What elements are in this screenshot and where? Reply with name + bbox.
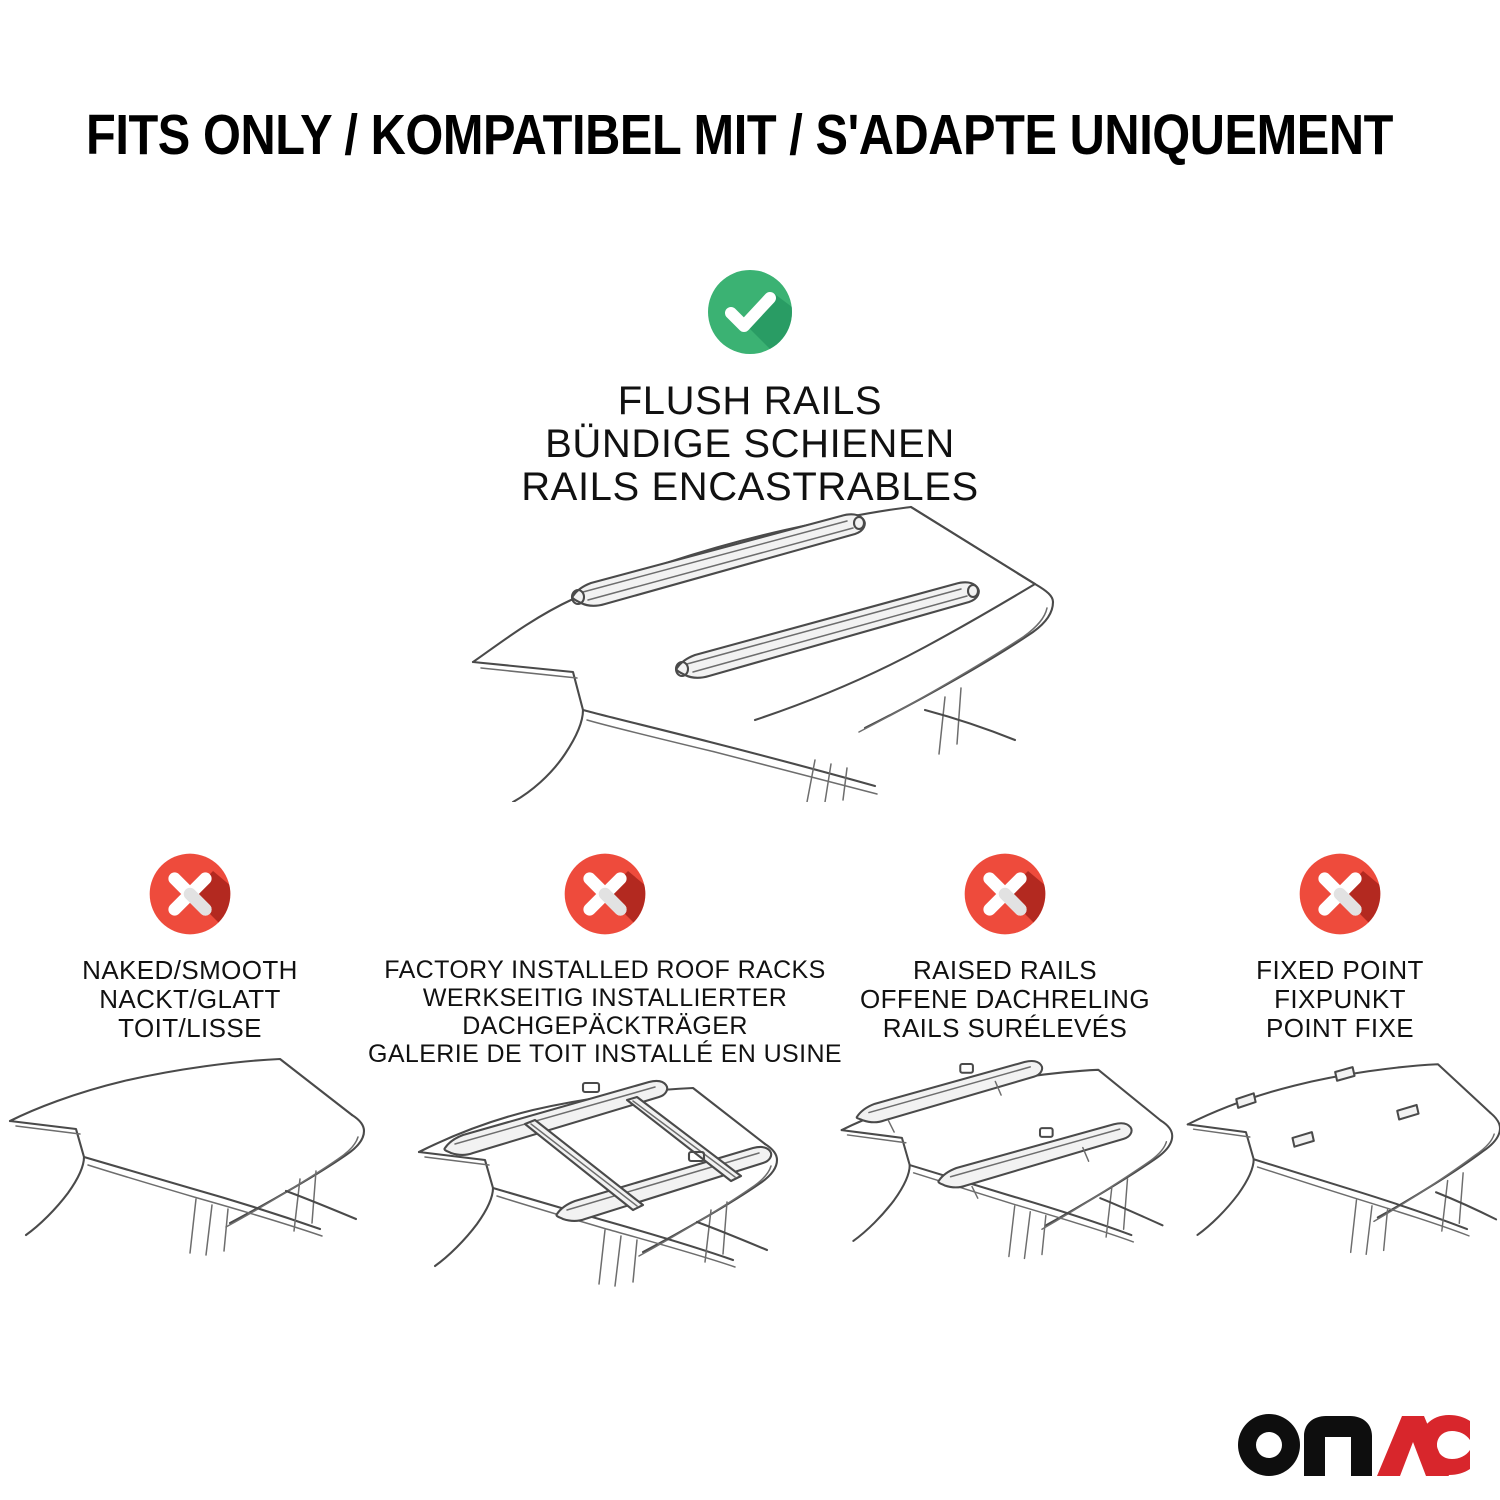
- omac-logo: [1238, 1412, 1470, 1478]
- page-title: FITS ONLY / KOMPATIBEL MIT / S'ADAPTE UN…: [86, 104, 1232, 166]
- incompatible-item-raised-rails: RAISED RAILS OFFENE DACHRELING RAILS SUR…: [830, 846, 1180, 1283]
- incompatible-labels-3: FIXED POINT FIXPUNKT POINT FIXE: [1256, 956, 1424, 1043]
- label-fr: TOIT/LISSE: [82, 1014, 298, 1043]
- compatible-label-de: BÜNDIGE SCHIENEN: [0, 423, 1500, 466]
- compatible-section: FLUSH RAILS BÜNDIGE SCHIENEN RAILS ENCAS…: [0, 262, 1500, 509]
- label-de: NACKT/GLATT: [82, 985, 298, 1014]
- label-en: RAISED RAILS: [860, 956, 1150, 985]
- x-circle-icon: [1292, 846, 1388, 942]
- compatible-labels: FLUSH RAILS BÜNDIGE SCHIENEN RAILS ENCAS…: [0, 380, 1500, 509]
- label-de: FIXPUNKT: [1256, 985, 1424, 1014]
- incompatible-item-naked-smooth: NAKED/SMOOTH NACKT/GLATT TOIT/LISSE: [0, 846, 380, 1283]
- logo-letter-m: [1304, 1416, 1372, 1476]
- label-en: FIXED POINT: [1256, 956, 1424, 985]
- car-roof-with-flush-rails-illustration: [455, 492, 1055, 802]
- label-de: OFFENE DACHRELING: [860, 985, 1150, 1014]
- incompatible-section: NAKED/SMOOTH NACKT/GLATT TOIT/LISSE: [0, 846, 1500, 1308]
- incompatible-labels-0: NAKED/SMOOTH NACKT/GLATT TOIT/LISSE: [82, 956, 298, 1043]
- incompatible-item-fixed-point: FIXED POINT FIXPUNKT POINT FIXE: [1180, 846, 1500, 1283]
- car-roof-with-factory-crossbars-illustration: [380, 1078, 830, 1308]
- incompatible-labels-2: RAISED RAILS OFFENE DACHRELING RAILS SUR…: [860, 956, 1150, 1043]
- label-de-2: DACHGEPÄCKTRÄGER: [368, 1012, 842, 1040]
- compatibility-infographic: FITS ONLY / KOMPATIBEL MIT / S'ADAPTE UN…: [0, 0, 1500, 1500]
- label-fr: POINT FIXE: [1256, 1014, 1424, 1043]
- label-fr: RAILS SURÉLEVÉS: [860, 1014, 1150, 1043]
- x-circle-icon: [957, 846, 1053, 942]
- x-circle-icon: [142, 846, 238, 942]
- incompatible-labels-1: FACTORY INSTALLED ROOF RACKS WERKSEITIG …: [368, 956, 842, 1068]
- car-roof-with-fixed-points-illustration: [1180, 1053, 1500, 1283]
- car-roof-bare-illustration: [0, 1053, 380, 1283]
- x-circle-icon: [557, 846, 653, 942]
- label-en: NAKED/SMOOTH: [82, 956, 298, 985]
- incompatible-item-factory-roof-racks: FACTORY INSTALLED ROOF RACKS WERKSEITIG …: [380, 846, 830, 1308]
- car-roof-with-raised-rails-illustration: [830, 1053, 1180, 1283]
- check-circle-icon: [700, 262, 800, 362]
- label-fr: GALERIE DE TOIT INSTALLÉ EN USINE: [368, 1040, 842, 1068]
- label-en: FACTORY INSTALLED ROOF RACKS: [368, 956, 842, 984]
- logo-letter-o: [1238, 1414, 1300, 1476]
- compatible-label-en: FLUSH RAILS: [0, 380, 1500, 423]
- label-de-1: WERKSEITIG INSTALLIERTER: [368, 984, 842, 1012]
